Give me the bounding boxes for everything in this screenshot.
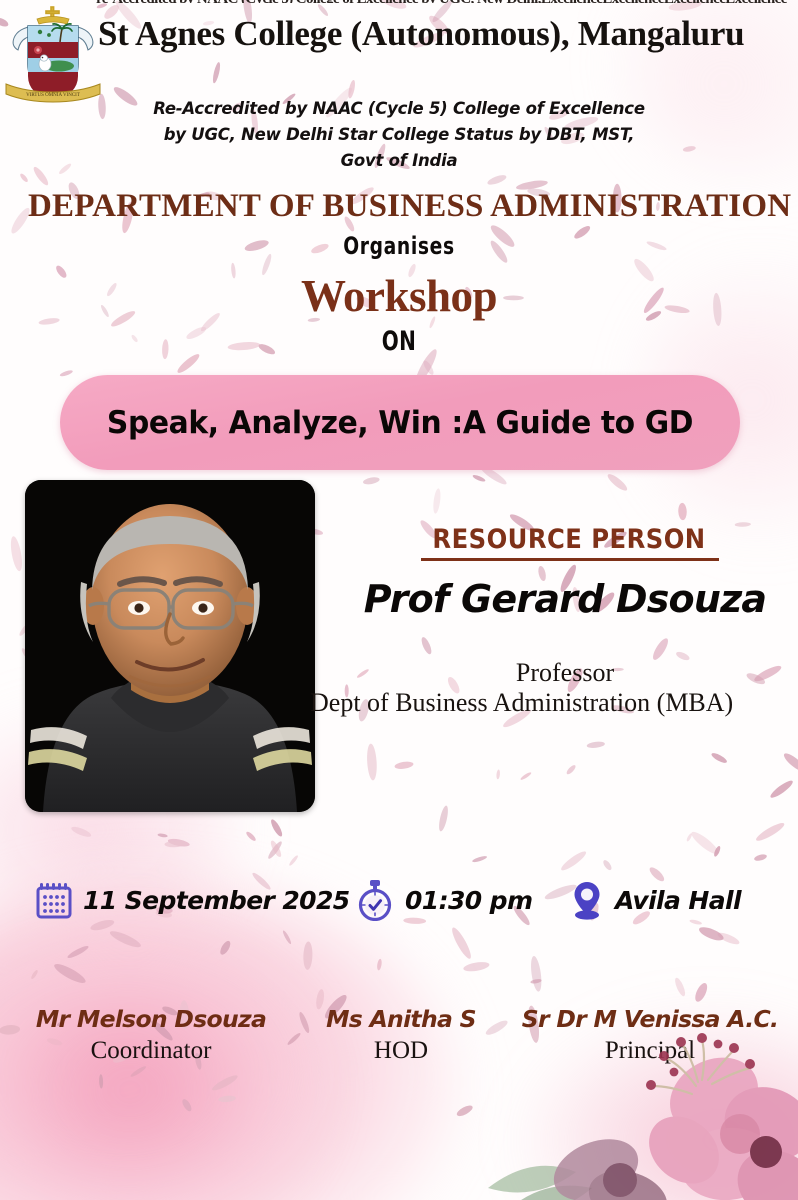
signatory-name: Mr Melson Dsouza [6,1005,296,1033]
resource-person-department: Dept of Business Administration (MBA) [310,688,798,718]
college-name: St Agnes College (Autonomous), Mangaluru [98,16,798,53]
accreditation-line-3: Govt of India [0,148,798,174]
portrait-illustration [25,480,315,812]
department-name: DEPARTMENT OF BUSINESS ADMINISTRATION [28,188,798,225]
event-type: Workshop [0,270,798,322]
event-venue-item: Avila Hall [570,872,741,928]
poster-canvas: re-Accredited by NAAC (Cycle 5) College … [0,0,798,1200]
organises-label: Organises [88,232,710,260]
resource-person-designation: Professor [330,658,798,688]
event-time-value: 01:30 pm [405,886,532,915]
event-title: Speak, Analyze, Win :A Guide to GD [74,375,727,470]
clipped-top-text: re-Accredited by NAAC (Cycle 5) College … [96,0,798,3]
resource-person-photo [25,480,315,812]
location-pin-icon [570,879,604,921]
signatory-principal: Sr Dr M Venissa A.C. Principal [500,1005,798,1065]
accreditation-line-2: by UGC, New Delhi Star College Status by… [0,122,798,148]
event-date-value: 11 September 2025 [83,886,350,915]
event-date-item: 11 September 2025 [36,872,350,928]
background-wash-bottom-left-2 [0,940,320,1200]
resource-person-label: RESOURCE PERSON [363,524,775,555]
signatory-name: Ms Anitha S [296,1005,506,1033]
resource-person-underline [421,558,719,561]
signatory-name: Sr Dr M Venissa A.C. [500,1005,798,1033]
event-venue-value: Avila Hall [615,886,741,915]
signatory-coordinator: Mr Melson Dsouza Coordinator [6,1005,296,1065]
signatory-role: Coordinator [6,1037,296,1065]
stopwatch-icon [356,879,394,921]
accreditation-text: Re-Accredited by NAAC (Cycle 5) College … [0,96,798,174]
signatory-role: HOD [296,1037,506,1065]
event-title-banner: Speak, Analyze, Win :A Guide to GD [60,375,740,470]
resource-person-name: Prof Gerard Dsouza [330,577,798,621]
on-label: ON [104,326,695,357]
accreditation-line-1: Re-Accredited by NAAC (Cycle 5) College … [0,96,798,122]
signatory-role: Principal [500,1037,798,1065]
college-crest-icon: VIRTUS OMNIA VINCIT [4,6,102,106]
event-time-item: 01:30 pm [356,872,532,928]
calendar-icon [36,881,72,919]
event-details-row: 11 September 2025 01:30 pm [0,872,798,928]
signatory-hod: Ms Anitha S HOD [296,1005,506,1065]
